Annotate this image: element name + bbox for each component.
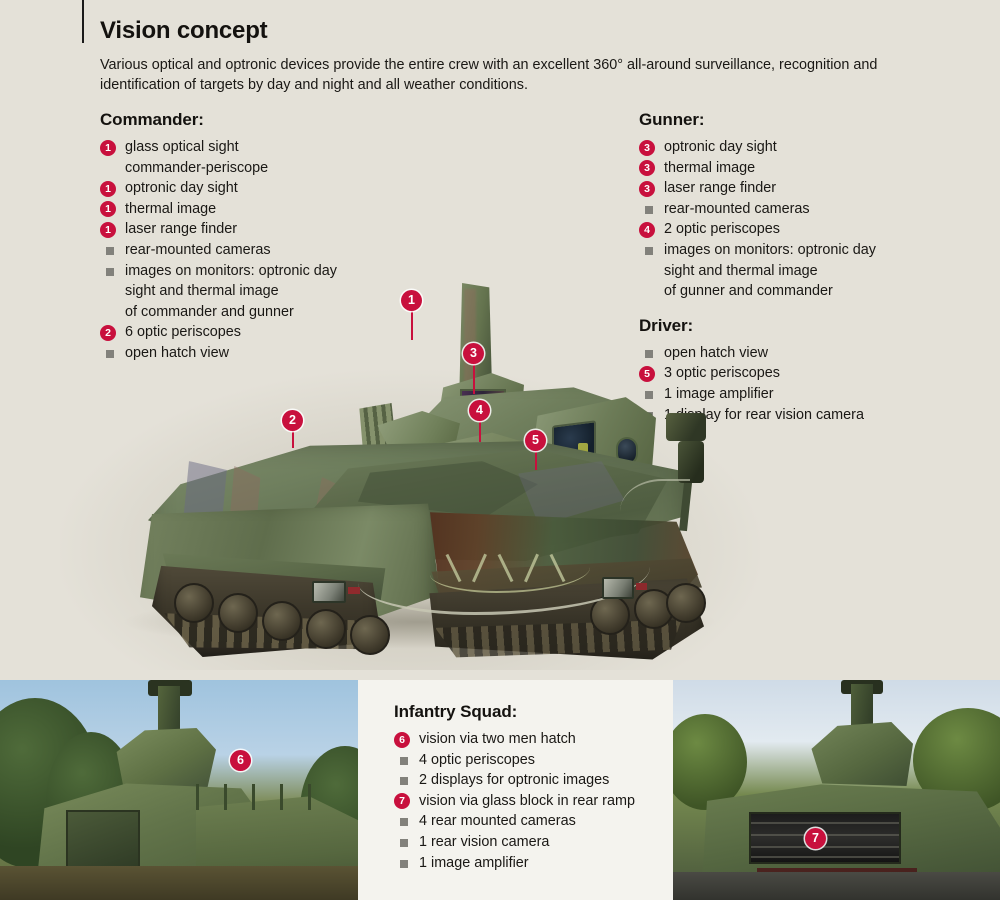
roof-railing <box>196 784 326 810</box>
marker-light-left <box>348 587 360 594</box>
marker-badge-1: 1 <box>100 181 116 197</box>
photo-marker-1[interactable]: 1 <box>401 290 422 311</box>
list-item-label: glass optical sight <box>125 139 239 155</box>
photo-marker-3[interactable]: 3 <box>463 343 484 364</box>
list-item: 1 glass optical sight commander-periscop… <box>100 137 400 178</box>
list-item: rear-mounted cameras <box>639 199 939 220</box>
photo-marker-2[interactable]: 2 <box>282 410 303 431</box>
marker-badge-6: 6 <box>394 732 410 748</box>
list-item-label: 2 optic periscopes <box>664 221 780 237</box>
photo-marker-4[interactable]: 4 <box>469 400 490 421</box>
list-item: 3 optronic day sight <box>639 137 939 158</box>
list-item-label: 1 rear vision camera <box>419 834 549 850</box>
list-item-label: optronic day sight <box>125 180 238 196</box>
road-wheel <box>350 615 390 655</box>
turret-rear <box>805 722 913 786</box>
list-item-label: vision via two men hatch <box>419 731 576 747</box>
marker-light-right <box>636 583 647 590</box>
leader-line-3 <box>473 362 475 394</box>
list-item-label: laser range finder <box>664 180 776 196</box>
list-item: 1 image amplifier <box>394 853 673 874</box>
list-item-label: 4 rear mounted cameras <box>419 813 576 829</box>
ground-strip <box>673 872 1000 900</box>
marker-badge-3: 3 <box>639 140 655 156</box>
rear-camera-head <box>666 413 706 441</box>
page-title: Vision concept <box>100 17 267 45</box>
list-item: 3 laser range finder <box>639 178 939 199</box>
marker-badge-3: 3 <box>639 160 655 176</box>
marker-badge-1: 1 <box>100 201 116 217</box>
main-vehicle-photo: 1 2 3 4 5 <box>0 250 1000 680</box>
bottom-photo-band: 6 Infantry Squad: 6 vision via two men h… <box>0 680 1000 900</box>
list-item: 4 optic periscopes <box>394 750 673 771</box>
list-item-label: thermal image <box>664 160 755 176</box>
list-item: 2 displays for optronic images <box>394 770 673 791</box>
leader-line-4 <box>479 418 481 442</box>
headlight-right <box>602 577 634 599</box>
sensor-mast <box>158 686 180 734</box>
sensor-mast <box>851 684 873 728</box>
photo-marker-7[interactable]: 7 <box>805 828 826 849</box>
list-item: 3 thermal image <box>639 158 939 179</box>
list-item: 1 rear vision camera <box>394 832 673 853</box>
bottom-right-photo: 7 <box>673 680 1000 900</box>
square-bullet-icon <box>400 818 408 826</box>
road-wheel <box>218 593 258 633</box>
turret-rear <box>108 728 216 788</box>
square-bullet-icon <box>400 757 408 765</box>
list-item-label: rear-mounted cameras <box>664 201 810 217</box>
commander-heading: Commander: <box>100 110 400 130</box>
list-item-label: 4 optic periscopes <box>419 752 535 768</box>
infographic-page: Vision concept Various optical and optro… <box>0 0 1000 900</box>
leader-line-1 <box>411 308 413 340</box>
infantry-squad-panel: Infantry Squad: 6 vision via two men hat… <box>358 680 673 900</box>
square-bullet-icon <box>645 206 653 214</box>
headlight-left <box>312 581 346 603</box>
square-bullet-icon <box>400 839 408 847</box>
photo-marker-5[interactable]: 5 <box>525 430 546 451</box>
marker-badge-1: 1 <box>100 140 116 156</box>
marker-badge-4: 4 <box>639 222 655 238</box>
rear-camera-housing <box>678 441 704 483</box>
list-item: 6 vision via two men hatch <box>394 729 673 750</box>
list-item-label: laser range finder <box>125 221 237 237</box>
square-bullet-icon <box>400 860 408 868</box>
leader-line-5 <box>535 448 537 470</box>
vehicle-illustration <box>100 265 740 665</box>
road-wheel <box>306 609 346 649</box>
ground-strip <box>0 866 358 900</box>
marker-badge-7: 7 <box>394 793 410 809</box>
list-item: 1 laser range finder <box>100 219 400 240</box>
list-item: 1 thermal image <box>100 199 400 220</box>
list-item: 1 optronic day sight <box>100 178 400 199</box>
list-item-cont: commander-periscope <box>125 158 400 179</box>
two-men-hatch <box>66 810 140 868</box>
road-wheel <box>262 601 302 641</box>
infantry-heading: Infantry Squad: <box>394 702 673 722</box>
marker-badge-3: 3 <box>639 181 655 197</box>
bottom-left-photo: 6 <box>0 680 358 900</box>
list-item: 7 vision via glass block in rear ramp <box>394 791 673 812</box>
list-item: 4 2 optic periscopes <box>639 219 939 240</box>
list-item-label: thermal image <box>125 201 216 217</box>
list-item-label: vision via glass block in rear ramp <box>419 793 635 809</box>
gunner-heading: Gunner: <box>639 110 939 130</box>
deck-v-marking <box>452 553 572 581</box>
road-wheel <box>666 583 706 623</box>
title-accent-bar <box>82 0 84 43</box>
list-item-label: 1 image amplifier <box>419 855 529 871</box>
road-wheel <box>174 583 214 623</box>
marker-badge-1: 1 <box>100 222 116 238</box>
intro-paragraph: Various optical and optronic devices pro… <box>100 55 906 95</box>
square-bullet-icon <box>400 777 408 785</box>
infantry-list: 6 vision via two men hatch 4 optic peris… <box>394 729 673 873</box>
list-item-label: optronic day sight <box>664 139 777 155</box>
list-item: 4 rear mounted cameras <box>394 811 673 832</box>
tree-foliage <box>673 714 747 810</box>
list-item-label: 2 displays for optronic images <box>419 772 609 788</box>
photo-marker-6[interactable]: 6 <box>230 750 251 771</box>
